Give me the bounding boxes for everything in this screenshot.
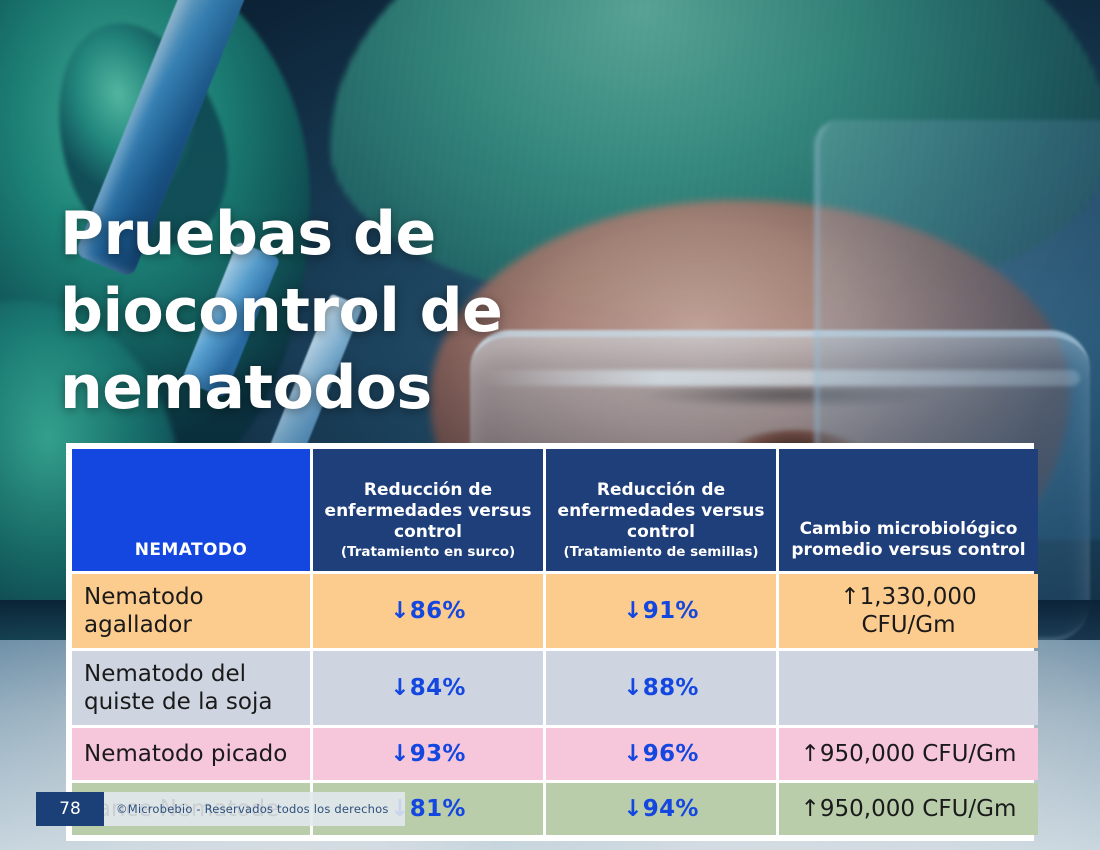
table-header-row: NEMATODO Reducción de enfermedades versu…	[72, 449, 1038, 571]
column-header-nematode-label: NEMATODO	[135, 540, 247, 560]
cell-furrow-reduction: ↓84%	[313, 651, 543, 725]
slide-footer: 78 ©Microbebio - Reservados todos los de…	[36, 792, 405, 826]
column-header-furrow-label: Reducción de enfermedades versus control	[325, 480, 532, 542]
nematode-results-table: NEMATODO Reducción de enfermedades versu…	[66, 443, 1034, 841]
cell-furrow-reduction: ↓86%	[313, 574, 543, 648]
table-row: Nematodo picado ↓93% ↓96% ↑950,000 CFU/G…	[72, 728, 1038, 780]
cell-seed-reduction: ↓91%	[546, 574, 776, 648]
slide: Pruebas de biocontrol de nematodos NEMAT…	[0, 0, 1100, 850]
column-header-seed-sub: (Tratamiento de semillas)	[552, 544, 770, 561]
cell-nematode-name: Nematodo picado	[72, 728, 310, 780]
cell-microbial-change	[779, 651, 1038, 725]
cell-microbial-change: ↑1,330,000 CFU/Gm	[779, 574, 1038, 648]
column-header-microbial-label: Cambio microbiológico promedio versus co…	[791, 519, 1025, 560]
slide-title: Pruebas de biocontrol de nematodos	[60, 196, 530, 427]
cell-microbial-change: ↑950,000 CFU/Gm	[779, 728, 1038, 780]
column-header-furrow-sub: (Tratamiento en surco)	[319, 544, 537, 561]
column-header-seed: Reducción de enfermedades versus control…	[546, 449, 776, 571]
column-header-nematode: NEMATODO	[72, 449, 310, 571]
copyright-notice: ©Microbebio - Reservados todos los derec…	[104, 792, 405, 826]
table-row: Nematodo agallador ↓86% ↓91% ↑1,330,000 …	[72, 574, 1038, 648]
column-header-seed-label: Reducción de enfermedades versus control	[558, 480, 765, 542]
cell-nematode-name: Nematodo del quiste de la soja	[72, 651, 310, 725]
cell-seed-reduction: ↓94%	[546, 783, 776, 835]
cell-nematode-name: Nematodo agallador	[72, 574, 310, 648]
column-header-microbial: Cambio microbiológico promedio versus co…	[779, 449, 1038, 571]
table-row: Nematodo del quiste de la soja ↓84% ↓88%	[72, 651, 1038, 725]
cell-microbial-change: ↑950,000 CFU/Gm	[779, 783, 1038, 835]
cell-seed-reduction: ↓96%	[546, 728, 776, 780]
column-header-furrow: Reducción de enfermedades versus control…	[313, 449, 543, 571]
page-number-badge: 78	[36, 792, 104, 826]
cell-seed-reduction: ↓88%	[546, 651, 776, 725]
cell-furrow-reduction: ↓93%	[313, 728, 543, 780]
